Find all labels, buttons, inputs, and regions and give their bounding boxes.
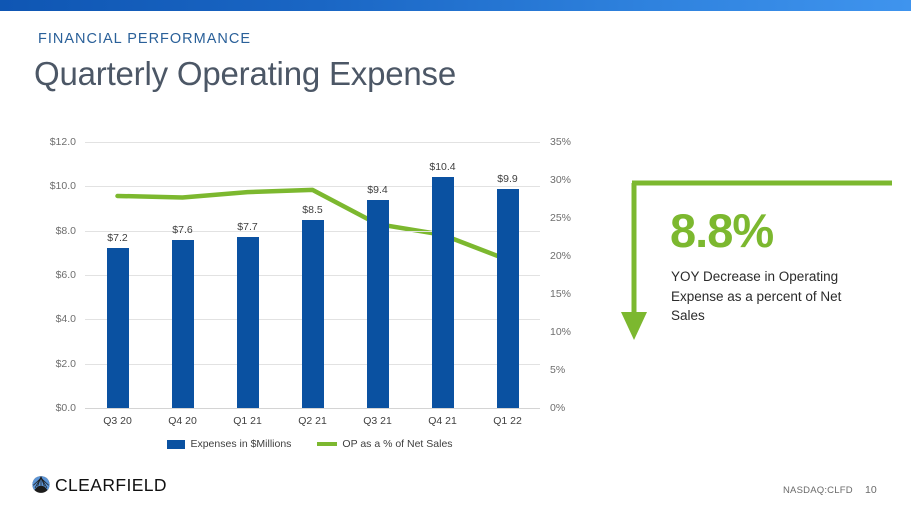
gridline (85, 408, 540, 409)
callout-block: 8.8% YOY Decrease in Operating Expense a… (620, 175, 900, 350)
stock-ticker: NASDAQ:CLFD (783, 485, 853, 496)
y-axis-tick-left: $2.0 (56, 359, 76, 370)
x-axis-tick: Q3 20 (103, 416, 132, 427)
bar-value-label: $9.9 (497, 174, 517, 185)
y-axis-tick-left: $4.0 (56, 314, 76, 325)
chart-plot-area: $0.0$2.0$4.0$6.0$8.0$10.0$12.00%5%10%15%… (85, 142, 540, 408)
y-axis-tick-right: 5% (550, 365, 565, 376)
legend-item-expenses: Expenses in $Millions (167, 438, 291, 450)
bar-q2-21[interactable] (302, 220, 324, 408)
y-axis-tick-right: 10% (550, 327, 571, 338)
y-axis-tick-left: $8.0 (56, 226, 76, 237)
bar-value-label: $7.6 (172, 225, 192, 236)
x-axis-tick: Q4 21 (428, 416, 457, 427)
legend-label-expenses: Expenses in $Millions (190, 438, 291, 450)
legend-swatch-line-icon (317, 442, 337, 446)
page-number: 10 (865, 484, 877, 496)
bar-value-label: $9.4 (367, 185, 387, 196)
legend-item-op-percent: OP as a % of Net Sales (317, 438, 452, 450)
bar-value-label: $8.5 (302, 205, 322, 216)
page-title: Quarterly Operating Expense (34, 55, 456, 93)
slide-eyebrow: FINANCIAL PERFORMANCE (38, 31, 251, 47)
bar-q3-20[interactable] (107, 248, 129, 408)
bar-value-label: $7.2 (107, 233, 127, 244)
y-axis-tick-right: 30% (550, 175, 571, 186)
y-axis-tick-left: $12.0 (50, 137, 76, 148)
clearfield-logo: CLEARFIELD (30, 474, 167, 496)
y-axis-tick-right: 0% (550, 403, 565, 414)
bar-q1-21[interactable] (237, 237, 259, 408)
quarterly-operating-expense-chart: $0.0$2.0$4.0$6.0$8.0$10.0$12.00%5%10%15%… (30, 130, 590, 460)
x-axis-tick: Q2 21 (298, 416, 327, 427)
y-axis-tick-left: $10.0 (50, 181, 76, 192)
bar-q4-21[interactable] (432, 177, 454, 408)
x-axis-tick: Q3 21 (363, 416, 392, 427)
x-axis-tick: Q1 22 (493, 416, 522, 427)
gridline (85, 186, 540, 187)
x-axis-tick: Q4 20 (168, 416, 197, 427)
callout-metric: 8.8% (670, 207, 773, 254)
y-axis-tick-left: $0.0 (56, 403, 76, 414)
y-axis-tick-right: 35% (550, 137, 571, 148)
legend-label-op-percent: OP as a % of Net Sales (342, 438, 452, 450)
x-axis-tick: Q1 21 (233, 416, 262, 427)
chart-legend: Expenses in $Millions OP as a % of Net S… (30, 438, 590, 450)
bar-q4-20[interactable] (172, 240, 194, 408)
bar-q1-22[interactable] (497, 189, 519, 408)
y-axis-tick-right: 25% (550, 213, 571, 224)
y-axis-tick-right: 20% (550, 251, 571, 262)
bar-q3-21[interactable] (367, 200, 389, 408)
gridline (85, 142, 540, 143)
y-axis-tick-right: 15% (550, 289, 571, 300)
shell-logo-icon (30, 474, 52, 496)
y-axis-tick-left: $6.0 (56, 270, 76, 281)
slide-canvas: FINANCIAL PERFORMANCE Quarterly Operatin… (0, 0, 911, 512)
callout-description: YOY Decrease in Operating Expense as a p… (671, 267, 861, 326)
logo-wordmark: CLEARFIELD (55, 475, 167, 496)
bar-value-label: $10.4 (429, 162, 455, 173)
legend-swatch-bar-icon (167, 440, 185, 449)
top-accent-bar (0, 0, 911, 11)
bar-value-label: $7.7 (237, 222, 257, 233)
